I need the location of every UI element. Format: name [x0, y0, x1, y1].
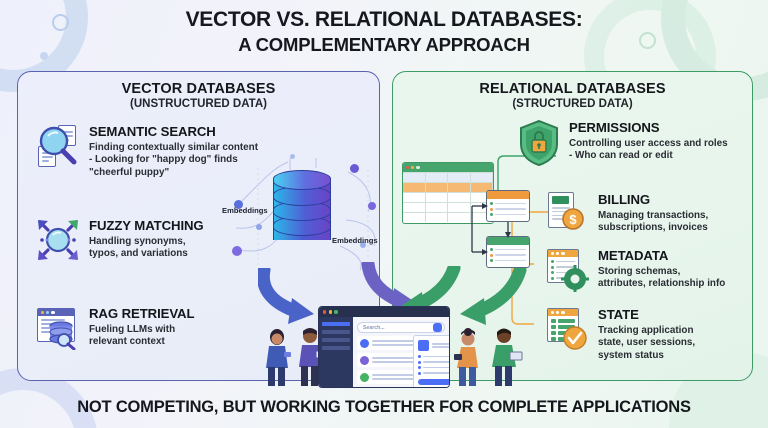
feature-desc: Fueling LLMs with relevant context	[89, 324, 194, 349]
feature-desc: Managing transactions, subscriptions, in…	[598, 210, 708, 235]
feature-title: RAG RETRIEVAL	[89, 307, 194, 322]
feature-desc: Controlling user access and roles - Who …	[569, 138, 728, 163]
vector-panel-subheading: (UNSTRUCTURED DATA)	[18, 98, 379, 110]
feature-title: BILLING	[598, 193, 708, 208]
person-illustration-left	[262, 328, 294, 386]
page-title: VECTOR VS. RELATIONAL DATABASES: A COMPL…	[0, 8, 768, 56]
feature-desc: Storing schemas, attributes, relationshi…	[598, 266, 725, 291]
footer-text: NOT COMPETING, BUT WORKING TOGETHER FOR …	[0, 392, 768, 422]
app-titlebar	[319, 307, 449, 317]
application-dashboard-mockup: Search...	[318, 306, 450, 388]
feature-title: METADATA	[598, 249, 725, 264]
sidebar-item[interactable]	[322, 338, 350, 342]
feature-billing: $ BILLING Managing transactions, subscri…	[545, 192, 760, 236]
feature-title: STATE	[598, 308, 695, 323]
fuzzy-arrows-icon	[36, 218, 80, 262]
feature-desc: Finding contextually similar content - L…	[89, 142, 258, 180]
feature-title: PERMISSIONS	[569, 121, 728, 136]
feature-title: FUZZY MATCHING	[89, 219, 204, 234]
person-illustration-right-1	[452, 328, 486, 386]
feature-metadata: METADATA Storing schemas, attributes, re…	[545, 248, 763, 292]
window-database-search-icon	[36, 306, 80, 350]
search-placeholder: Search...	[363, 325, 385, 331]
title-line-2: A COMPLEMENTARY APPROACH	[0, 33, 768, 56]
feature-desc: Handling synonyms, typos, and variations	[89, 236, 204, 261]
embedding-node	[368, 202, 376, 210]
avatar	[360, 373, 369, 382]
feature-fuzzy-matching: FUZZY MATCHING Handling synonyms, typos,…	[36, 218, 271, 262]
sidebar-item[interactable]	[322, 346, 350, 350]
relational-panel-subheading: (STRUCTURED DATA)	[393, 98, 752, 110]
feature-state: STATE Tracking application state, user s…	[545, 307, 757, 363]
person-illustration-right-2	[488, 326, 524, 386]
feature-title: SEMANTIC SEARCH	[89, 125, 258, 140]
feature-rag-retrieval: RAG RETRIEVAL Fueling LLMs with relevant…	[36, 306, 261, 350]
vector-database-cylinder-icon	[273, 170, 331, 248]
profile-avatar-icon	[418, 340, 429, 351]
embeddings-label-right: Embeddings	[332, 236, 378, 245]
window-gear-icon	[545, 248, 589, 292]
vector-panel-header: VECTOR DATABASES (UNSTRUCTURED DATA)	[18, 72, 379, 110]
avatar	[360, 356, 369, 365]
embedding-node	[350, 164, 359, 173]
magnifier-document-icon	[36, 124, 80, 168]
feature-semantic-search: SEMANTIC SEARCH Finding contextually sim…	[36, 124, 291, 180]
feature-desc: Tracking application state, user session…	[598, 325, 695, 363]
window-check-icon	[545, 307, 589, 351]
svg-text:$: $	[569, 212, 577, 227]
title-line-1: VECTOR VS. RELATIONAL DATABASES:	[0, 8, 768, 33]
app-content: Search...	[353, 317, 449, 388]
search-input[interactable]: Search...	[357, 322, 445, 333]
profile-detail-card	[413, 335, 450, 388]
footer-banner: NOT COMPETING, BUT WORKING TOGETHER FOR …	[0, 392, 768, 428]
sidebar-item-active[interactable]	[322, 322, 350, 326]
vector-panel-heading: VECTOR DATABASES	[18, 81, 379, 97]
sidebar-item[interactable]	[322, 330, 350, 334]
shield-lock-icon	[518, 120, 560, 166]
green-curved-arrow-icon-right	[452, 268, 530, 326]
app-sidebar[interactable]	[319, 317, 353, 388]
invoice-dollar-icon: $	[545, 192, 589, 236]
relational-panel-heading: RELATIONAL DATABASES	[393, 81, 752, 97]
feature-permissions: PERMISSIONS Controlling user access and …	[518, 120, 756, 166]
primary-action-button[interactable]	[418, 379, 450, 385]
search-icon[interactable]	[433, 323, 442, 332]
relational-panel-header: RELATIONAL DATABASES (STRUCTURED DATA)	[393, 72, 752, 110]
avatar	[360, 339, 369, 348]
embeddings-label-left: Embeddings	[222, 206, 268, 215]
